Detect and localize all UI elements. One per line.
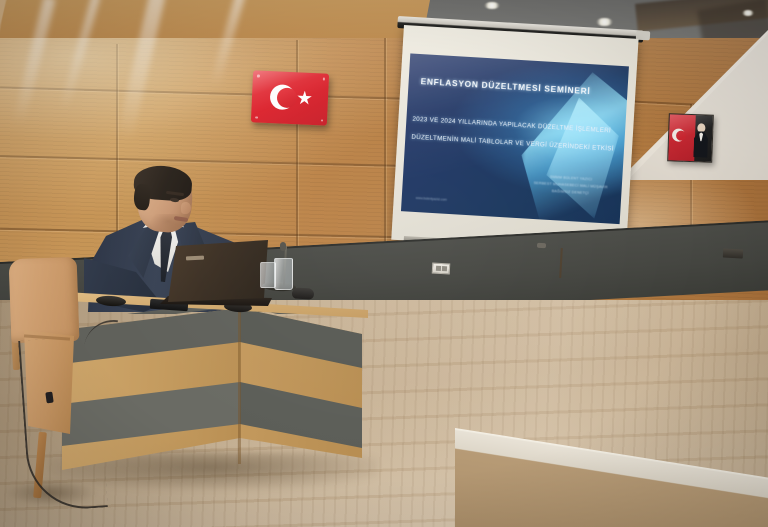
downlight-icon [484,2,500,9]
wall-plate-right[interactable] [723,248,743,258]
plaque-gloss [251,70,329,125]
cable-clip [45,392,53,404]
projected-slide: ENFLASYON DÜZELTMESİ SEMİNERİ 2023 VE 20… [401,53,629,224]
microphone-icon [280,242,286,251]
portrait-gloss [668,114,713,161]
screen-control-button[interactable] [537,243,546,248]
slide-presenter-credit: SMMM BÜLENT YAZICI SERBEST MUHASEBECİ MA… [533,173,608,198]
seminar-room-photo: ENFLASYON DÜZELTMESİ SEMİNERİ 2023 VE 20… [0,0,768,527]
downlight-icon [742,10,754,16]
turkish-flag-plaque [251,70,329,125]
projection-screen: ENFLASYON DÜZELTMESİ SEMİNERİ 2023 VE 20… [391,25,638,254]
chair-backrest [9,257,80,343]
wall-outlet[interactable] [432,263,451,275]
downlight-icon [596,18,613,26]
desk-corner-edge [238,304,241,464]
presenter-nose [181,202,191,214]
laptop[interactable] [168,240,268,302]
slide-title: ENFLASYON DÜZELTMESİ SEMİNERİ [420,76,615,98]
ataturk-portrait-frame [667,113,714,163]
water-glass [274,258,293,290]
slide-footer-url: www.bulentyazici.com [416,196,447,202]
computer-mouse[interactable] [292,287,315,299]
